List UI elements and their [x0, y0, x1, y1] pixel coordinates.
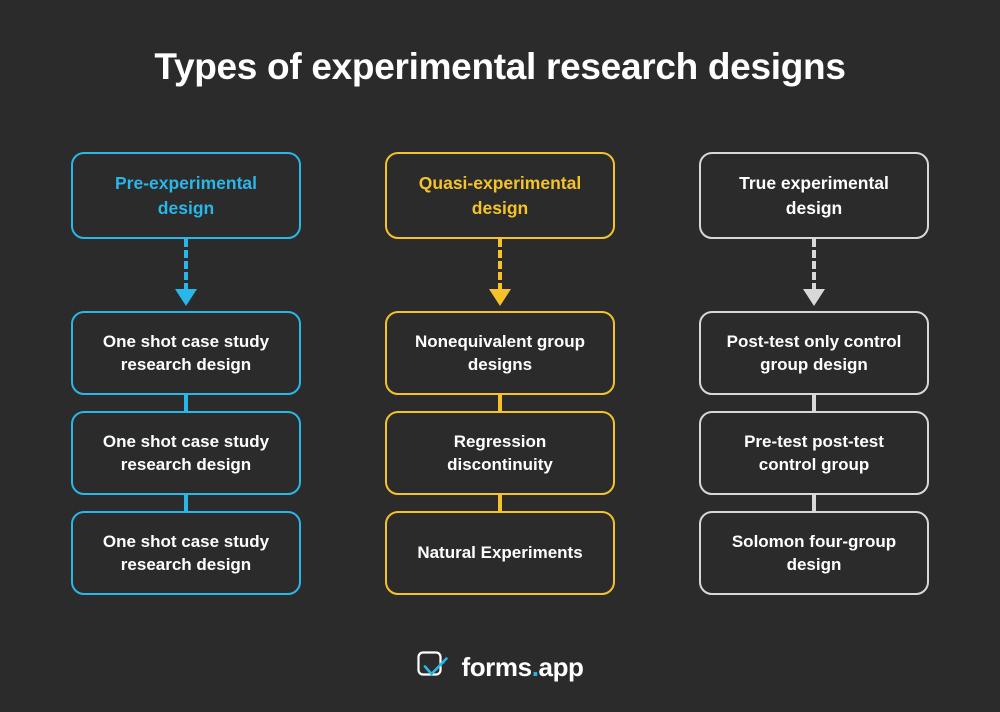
columns-container: Pre-experimental design One shot case st… — [0, 152, 1000, 595]
link-connector — [71, 495, 301, 511]
child-node[interactable]: Solomon four-group design — [699, 511, 929, 595]
child-node-label: Post-test only control group design — [715, 330, 913, 377]
child-node-label: One shot case study research design — [87, 530, 285, 577]
child-node[interactable]: One shot case study research design — [71, 411, 301, 495]
header-node-pre-experimental[interactable]: Pre-experimental design — [71, 152, 301, 239]
child-node[interactable]: Regression discontinuity — [385, 411, 615, 495]
child-node[interactable]: One shot case study research design — [71, 311, 301, 395]
dashed-segment — [184, 495, 188, 511]
dashed-segment — [498, 395, 502, 411]
dashed-line — [812, 239, 816, 291]
child-node[interactable]: Pre-test post-test control group — [699, 411, 929, 495]
child-node-label: Nonequivalent group designs — [401, 330, 599, 377]
arrow-connector-pre-experimental — [71, 239, 301, 311]
arrow-head-icon — [489, 289, 511, 306]
dashed-line — [184, 239, 188, 291]
child-node-label: Natural Experiments — [417, 541, 582, 564]
link-connector — [699, 495, 929, 511]
arrow-head-icon — [803, 289, 825, 306]
column-true-experimental: True experimental design Post-test only … — [699, 152, 929, 595]
brand-wordmark: forms.app — [461, 654, 583, 680]
child-node[interactable]: Nonequivalent group designs — [385, 311, 615, 395]
dashed-segment — [498, 495, 502, 511]
header-node-label: Quasi-experimental design — [401, 171, 599, 219]
child-node-label: One shot case study research design — [87, 330, 285, 377]
arrow-connector-true-experimental — [699, 239, 929, 311]
brand-tld: app — [539, 652, 584, 682]
forms-app-check-icon — [416, 650, 450, 684]
child-node-label: One shot case study research design — [87, 430, 285, 477]
arrow-connector-quasi-experimental — [385, 239, 615, 311]
footer-brand: forms.app — [0, 650, 1000, 684]
child-node-label: Pre-test post-test control group — [715, 430, 913, 477]
dashed-segment — [812, 495, 816, 511]
dashed-segment — [812, 395, 816, 411]
child-node[interactable]: One shot case study research design — [71, 511, 301, 595]
dashed-segment — [184, 395, 188, 411]
header-node-true-experimental[interactable]: True experimental design — [699, 152, 929, 239]
child-node-label: Solomon four-group design — [715, 530, 913, 577]
header-node-label: True experimental design — [715, 171, 913, 219]
column-pre-experimental: Pre-experimental design One shot case st… — [71, 152, 301, 595]
link-connector — [385, 395, 615, 411]
header-node-label: Pre-experimental design — [87, 171, 285, 219]
page-title: Types of experimental research designs — [0, 45, 1000, 89]
brand-dot: . — [532, 652, 539, 682]
child-node-label: Regression discontinuity — [401, 430, 599, 477]
arrow-head-icon — [175, 289, 197, 306]
link-connector — [385, 495, 615, 511]
column-quasi-experimental: Quasi-experimental design Nonequivalent … — [385, 152, 615, 595]
header-node-quasi-experimental[interactable]: Quasi-experimental design — [385, 152, 615, 239]
dashed-line — [498, 239, 502, 291]
infographic-canvas: Types of experimental research designs P… — [0, 0, 1000, 712]
link-connector — [699, 395, 929, 411]
link-connector — [71, 395, 301, 411]
child-node[interactable]: Natural Experiments — [385, 511, 615, 595]
brand-name: forms — [461, 652, 531, 682]
child-node[interactable]: Post-test only control group design — [699, 311, 929, 395]
